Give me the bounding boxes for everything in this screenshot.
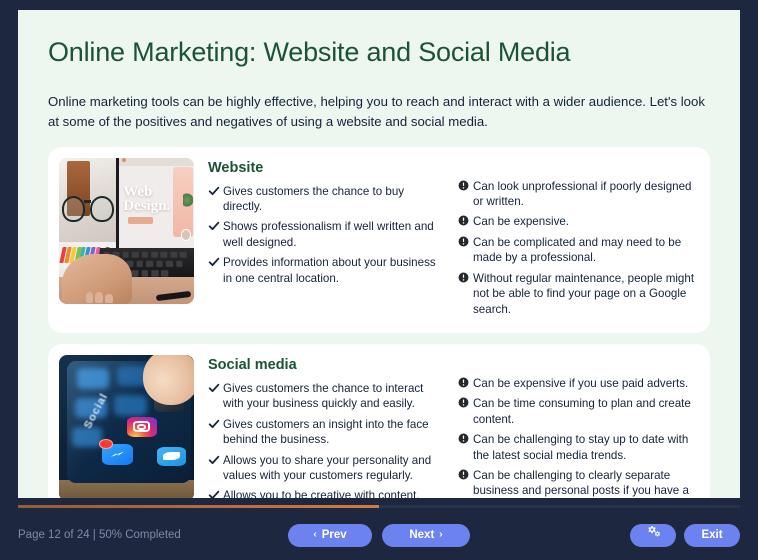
page-status-text: Page 12 of 24 | 50% Completed xyxy=(18,529,181,541)
list-item-text: Allows you to be creative with content. xyxy=(223,488,420,498)
presentation-window: Online Marketing: Website and Social Med… xyxy=(0,0,758,560)
exclamation-circle-icon xyxy=(458,271,473,283)
social-media-cons-column: Can be expensive if you use paid adverts… xyxy=(452,357,696,498)
list-item-text: Can be expensive. xyxy=(473,214,569,229)
list-item-text: Gives customers the chance to interact w… xyxy=(223,381,442,412)
website-cons-column: Can look unprofessional if poorly design… xyxy=(452,160,696,322)
next-button[interactable]: Next › xyxy=(382,524,470,547)
chevron-right-icon: › xyxy=(439,530,442,540)
player-toolbar: Page 12 of 24 | 50% Completed ‹ Prev Nex… xyxy=(0,510,758,560)
social-media-pros-column: Social media Gives customers the chance … xyxy=(208,357,452,498)
prev-button-label: Prev xyxy=(322,524,347,547)
exit-button[interactable]: Exit xyxy=(684,524,740,547)
list-item: Can be expensive if you use paid adverts… xyxy=(458,376,696,391)
list-item-text: Can be challenging to stay up to date wi… xyxy=(473,432,696,463)
social-media-photo: Social xyxy=(59,355,194,498)
social-media-cons-list: Can be expensive if you use paid adverts… xyxy=(458,376,696,498)
list-item-text: Allows you to share your personality and… xyxy=(223,453,442,484)
website-pros-list: Gives customers the chance to buy direct… xyxy=(208,184,442,286)
content-card-website: Web Design. xyxy=(48,147,710,333)
exclamation-circle-icon xyxy=(458,214,473,226)
website-cons-list: Can look unprofessional if poorly design… xyxy=(458,179,696,317)
slide-content-panel: Online Marketing: Website and Social Med… xyxy=(18,10,740,498)
list-item: Provides information about your business… xyxy=(208,255,442,286)
check-icon xyxy=(208,381,223,394)
website-card-body: Website Gives customers the chance to bu… xyxy=(194,158,696,322)
list-item: Gives customers the chance to interact w… xyxy=(208,381,442,412)
slide-intro-text: Online marketing tools can be highly eff… xyxy=(48,92,708,130)
website-pros-column: Website Gives customers the chance to bu… xyxy=(208,160,452,322)
check-icon xyxy=(208,488,223,498)
list-item-text: Gives customers the chance to buy direct… xyxy=(223,184,442,215)
photo-overlay-text: Web Design. xyxy=(123,185,177,214)
card-heading-social-media: Social media xyxy=(208,357,442,373)
list-item-text: Can be time consuming to plan and create… xyxy=(473,396,696,427)
list-item-text: Gives customers an insight into the face… xyxy=(223,417,442,448)
card-heading-website: Website xyxy=(208,160,442,176)
list-item: Allows you to be creative with content. xyxy=(208,488,442,498)
page-title: Online Marketing: Website and Social Med… xyxy=(48,36,710,68)
list-item: Can be complicated and may need to be ma… xyxy=(458,235,696,266)
social-media-pros-list: Gives customers the chance to interact w… xyxy=(208,381,442,498)
exclamation-circle-icon xyxy=(458,376,473,388)
list-item: Can look unprofessional if poorly design… xyxy=(458,179,696,210)
exit-button-label: Exit xyxy=(701,524,722,547)
list-item: Can be time consuming to plan and create… xyxy=(458,396,696,427)
exclamation-circle-icon xyxy=(458,396,473,408)
check-icon xyxy=(208,417,223,430)
next-button-label: Next xyxy=(409,524,434,547)
list-item: Allows you to share your personality and… xyxy=(208,453,442,484)
list-item-text: Can be complicated and may need to be ma… xyxy=(473,235,696,266)
website-photo: Web Design. xyxy=(59,158,194,304)
list-item-text: Shows professionalism if well written an… xyxy=(223,219,442,250)
prev-button[interactable]: ‹ Prev xyxy=(288,524,372,547)
content-card-social-media: Social xyxy=(48,344,710,498)
list-item: Shows professionalism if well written an… xyxy=(208,219,442,250)
list-item: Gives customers the chance to buy direct… xyxy=(208,184,442,215)
exclamation-circle-icon xyxy=(458,432,473,444)
check-icon xyxy=(208,453,223,466)
list-item: Can be expensive. xyxy=(458,214,696,229)
check-icon xyxy=(208,219,223,232)
progress-bar-fill xyxy=(18,505,379,508)
list-item-text: Without regular maintenance, people migh… xyxy=(473,271,696,317)
settings-button[interactable] xyxy=(630,524,676,547)
list-item: Gives customers an insight into the face… xyxy=(208,417,442,448)
exclamation-circle-icon xyxy=(458,235,473,247)
toolbar-right-group: Exit xyxy=(630,524,740,547)
list-item-text: Can look unprofessional if poorly design… xyxy=(473,179,696,210)
list-item: Can be challenging to clearly separate b… xyxy=(458,468,696,498)
list-item: Without regular maintenance, people migh… xyxy=(458,271,696,317)
list-item-text: Provides information about your business… xyxy=(223,255,442,286)
list-item: Can be challenging to stay up to date wi… xyxy=(458,432,696,463)
exclamation-circle-icon xyxy=(458,468,473,480)
social-media-card-body: Social media Gives customers the chance … xyxy=(194,355,696,498)
progress-bar-track xyxy=(18,505,740,508)
check-icon xyxy=(208,255,223,268)
cogs-icon xyxy=(646,524,661,547)
check-icon xyxy=(208,184,223,197)
exclamation-circle-icon xyxy=(458,179,473,191)
chevron-left-icon: ‹ xyxy=(313,530,316,540)
list-item-text: Can be challenging to clearly separate b… xyxy=(473,468,696,498)
list-item-text: Can be expensive if you use paid adverts… xyxy=(473,376,688,391)
